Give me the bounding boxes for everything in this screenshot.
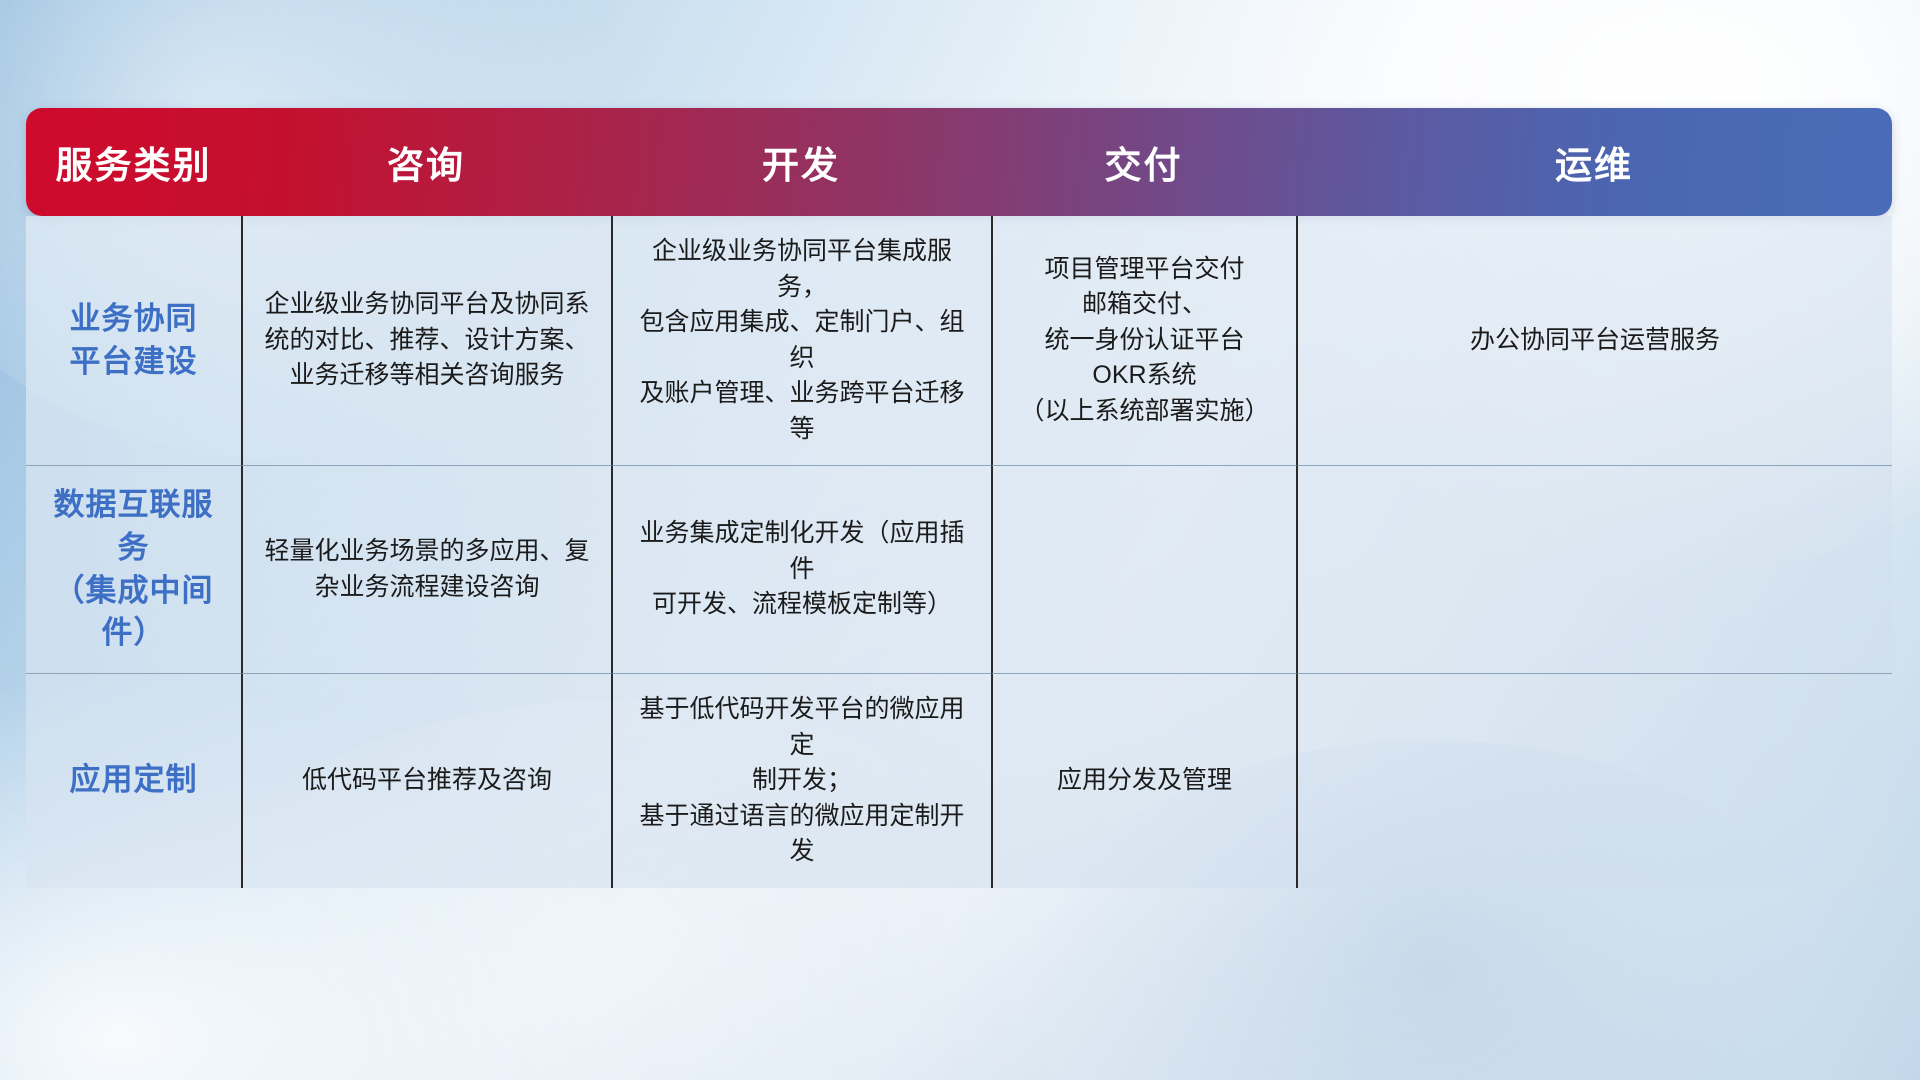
row-2-operations <box>1296 466 1892 674</box>
service-table: 服务类别 咨询 开发 交付 运维 <box>26 108 1892 888</box>
table-row: 数据互联服务 （集成中间件） 轻量化业务场景的多应用、复 杂业务流程建设咨询 业… <box>26 466 1892 674</box>
table-row: 业务协同 平台建设 企业级业务协同平台及协同系 统的对比、推荐、设计方案、 业务… <box>26 216 1892 466</box>
column-header-delivery-label: 交付 <box>1105 135 1183 189</box>
row-2-consulting: 轻量化业务场景的多应用、复 杂业务流程建设咨询 <box>241 466 611 674</box>
column-header-consulting-label: 咨询 <box>387 135 465 189</box>
column-header-operations-label: 运维 <box>1555 135 1633 189</box>
column-header-operations[interactable]: 运维 <box>1296 108 1892 216</box>
row-3-delivery: 应用分发及管理 <box>991 674 1296 888</box>
row-1-category: 业务协同 平台建设 <box>26 216 241 466</box>
row-1-delivery: 项目管理平台交付 邮箱交付、 统一身份认证平台 OKR系统 （以上系统部署实施） <box>991 216 1296 466</box>
row-3-consulting: 低代码平台推荐及咨询 <box>241 674 611 888</box>
row-3-operations <box>1296 674 1892 888</box>
column-header-development[interactable]: 开发 <box>611 108 991 216</box>
table-body: 业务协同 平台建设 企业级业务协同平台及协同系 统的对比、推荐、设计方案、 业务… <box>26 216 1892 888</box>
row-2-category: 数据互联服务 （集成中间件） <box>26 466 241 674</box>
column-header-consulting[interactable]: 咨询 <box>241 108 611 216</box>
service-matrix-table: 服务类别 咨询 开发 交付 运维 <box>26 108 1892 888</box>
column-header-delivery[interactable]: 交付 <box>991 108 1296 216</box>
row-1-consulting: 企业级业务协同平台及协同系 统的对比、推荐、设计方案、 业务迁移等相关咨询服务 <box>241 216 611 466</box>
header-row: 服务类别 咨询 开发 交付 运维 <box>26 108 1892 216</box>
column-header-development-label: 开发 <box>762 135 840 189</box>
row-3-category: 应用定制 <box>26 674 241 888</box>
column-header-category[interactable]: 服务类别 <box>26 108 241 216</box>
table-row: 应用定制 低代码平台推荐及咨询 基于低代码开发平台的微应用定 制开发； 基于通过… <box>26 674 1892 888</box>
row-3-development: 基于低代码开发平台的微应用定 制开发； 基于通过语言的微应用定制开发 <box>611 674 991 888</box>
table-head: 服务类别 咨询 开发 交付 运维 <box>26 108 1892 216</box>
column-header-category-label: 服务类别 <box>56 135 212 189</box>
row-1-development: 企业级业务协同平台集成服务， 包含应用集成、定制门户、组织 及账户管理、业务跨平… <box>611 216 991 466</box>
row-2-development: 业务集成定制化开发（应用插件 可开发、流程模板定制等） <box>611 466 991 674</box>
row-1-operations: 办公协同平台运营服务 <box>1296 216 1892 466</box>
slide-canvas: 服务类别 咨询 开发 交付 运维 <box>0 0 1920 1080</box>
row-2-delivery <box>991 466 1296 674</box>
